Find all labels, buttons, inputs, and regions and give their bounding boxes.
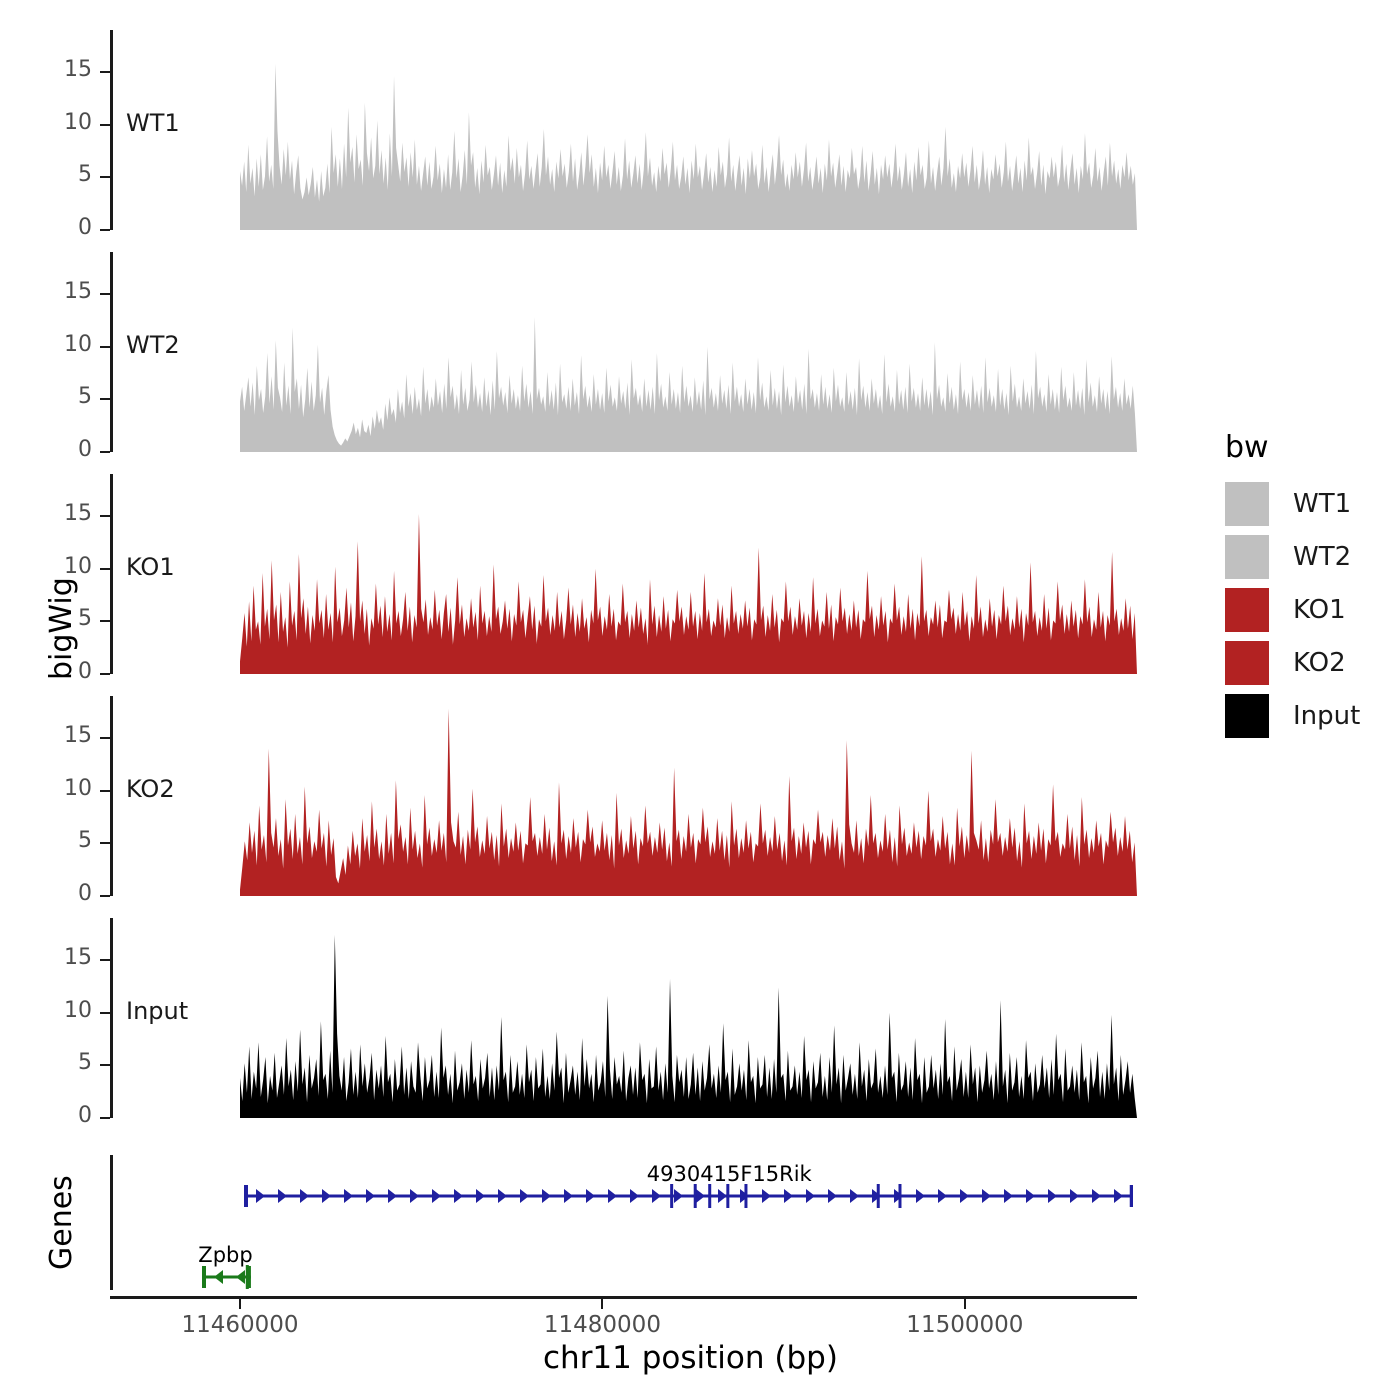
y-tick-5 — [100, 842, 110, 844]
gene-model-zpbp[interactable] — [202, 1264, 251, 1290]
track-label-wt2: WT2 — [126, 331, 180, 359]
x-tick-label-11480000: 11480000 — [544, 1312, 661, 1338]
legend-title: bw — [1225, 430, 1269, 465]
y-axis-line-wt1 — [110, 30, 113, 230]
y-tick-label-0: 0 — [30, 881, 92, 906]
y-tick-label-5: 5 — [30, 384, 92, 409]
legend-label-wt2: WT2 — [1293, 542, 1351, 572]
legend-swatch-ko1 — [1225, 588, 1269, 632]
y-tick-0 — [100, 1117, 110, 1119]
y-tick-15 — [100, 515, 110, 517]
signal-track-wt2 — [240, 252, 1137, 452]
genes-axis-line — [110, 1155, 113, 1290]
y-tick-10 — [100, 1012, 110, 1014]
y-tick-label-5: 5 — [30, 828, 92, 853]
y-axis-line-wt2 — [110, 252, 113, 452]
y-tick-0 — [100, 673, 110, 675]
y-tick-label-10: 10 — [30, 110, 92, 135]
y-tick-label-0: 0 — [30, 1103, 92, 1128]
y-tick-label-15: 15 — [30, 57, 92, 82]
genes-axis-title: Genes — [44, 1175, 79, 1270]
x-axis-label: chr11 position (bp) — [543, 1340, 838, 1376]
x-tick-11500000 — [964, 1299, 966, 1309]
y-tick-label-5: 5 — [30, 1050, 92, 1075]
track-label-wt1: WT1 — [126, 109, 180, 137]
y-tick-15 — [100, 293, 110, 295]
y-tick-10 — [100, 790, 110, 792]
y-tick-0 — [100, 229, 110, 231]
y-tick-label-10: 10 — [30, 332, 92, 357]
track-label-ko2: KO2 — [126, 775, 175, 803]
legend-item-ko1[interactable]: KO1 — [1225, 588, 1346, 632]
track-label-ko1: KO1 — [126, 553, 175, 581]
y-tick-5 — [100, 398, 110, 400]
track-label-input: Input — [126, 997, 188, 1025]
y-tick-label-10: 10 — [30, 998, 92, 1023]
legend-label-ko1: KO1 — [1293, 595, 1346, 625]
y-tick-15 — [100, 71, 110, 73]
y-tick-label-15: 15 — [30, 945, 92, 970]
y-tick-label-15: 15 — [30, 723, 92, 748]
x-tick-label-11460000: 11460000 — [181, 1312, 298, 1338]
y-tick-label-0: 0 — [30, 215, 92, 240]
legend-item-wt2[interactable]: WT2 — [1225, 535, 1351, 579]
legend-swatch-input — [1225, 694, 1269, 738]
x-tick-11460000 — [239, 1299, 241, 1309]
y-tick-10 — [100, 346, 110, 348]
legend-item-ko2[interactable]: KO2 — [1225, 641, 1346, 685]
legend-swatch-wt2 — [1225, 535, 1269, 579]
y-axis-line-ko2 — [110, 696, 113, 896]
legend-swatch-ko2 — [1225, 641, 1269, 685]
legend-label-input: Input — [1293, 701, 1360, 731]
y-tick-label-15: 15 — [30, 279, 92, 304]
y-tick-15 — [100, 737, 110, 739]
y-tick-label-5: 5 — [30, 162, 92, 187]
y-tick-10 — [100, 124, 110, 126]
genome-browser-figure: bigWig Genes 051015WT1051015WT2051015KO1… — [0, 0, 1400, 1400]
x-axis-line — [110, 1296, 1137, 1299]
y-tick-label-5: 5 — [30, 606, 92, 631]
y-tick-label-0: 0 — [30, 437, 92, 462]
y-tick-10 — [100, 568, 110, 570]
y-tick-0 — [100, 451, 110, 453]
gene-model-4930415f15rik[interactable] — [244, 1183, 1134, 1209]
y-tick-5 — [100, 176, 110, 178]
signal-track-input — [240, 918, 1137, 1118]
y-axis-line-ko1 — [110, 474, 113, 674]
y-axis-line-input — [110, 918, 113, 1118]
x-tick-11480000 — [601, 1299, 603, 1309]
signal-track-ko2 — [240, 696, 1137, 896]
signal-track-wt1 — [240, 30, 1137, 230]
legend-label-wt1: WT1 — [1293, 489, 1351, 519]
y-tick-label-10: 10 — [30, 554, 92, 579]
y-tick-0 — [100, 895, 110, 897]
signal-track-ko1 — [240, 474, 1137, 674]
legend-item-wt1[interactable]: WT1 — [1225, 482, 1351, 526]
x-tick-label-11500000: 11500000 — [906, 1312, 1023, 1338]
y-tick-label-15: 15 — [30, 501, 92, 526]
y-tick-5 — [100, 620, 110, 622]
legend-item-input[interactable]: Input — [1225, 694, 1360, 738]
legend-label-ko2: KO2 — [1293, 648, 1346, 678]
y-tick-5 — [100, 1064, 110, 1066]
y-tick-label-0: 0 — [30, 659, 92, 684]
y-tick-15 — [100, 959, 110, 961]
y-tick-label-10: 10 — [30, 776, 92, 801]
legend-swatch-wt1 — [1225, 482, 1269, 526]
